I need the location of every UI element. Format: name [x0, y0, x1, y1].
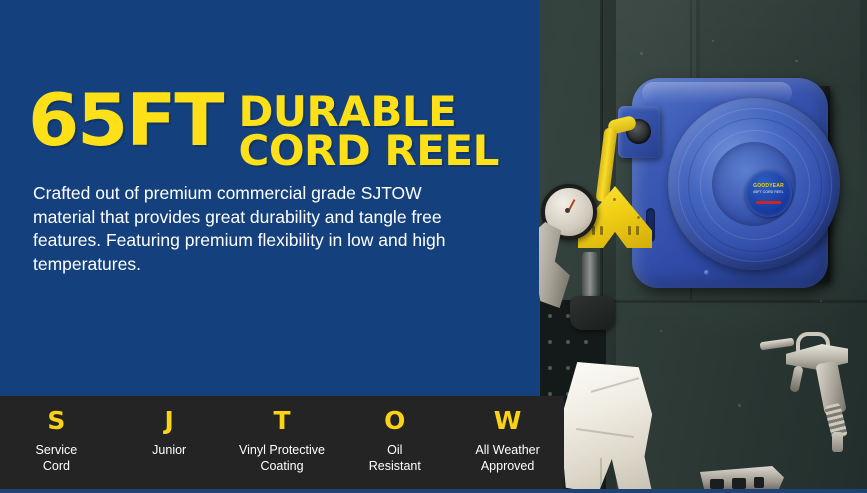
- headline-block: 65FT DURABLE CORD REEL: [30, 88, 530, 170]
- wall-speck: [640, 52, 643, 55]
- feature-letter-w: W: [494, 408, 522, 434]
- feature-letter-t: T: [273, 408, 290, 434]
- feature-letter-j: J: [165, 408, 174, 434]
- feature-letter-s: S: [47, 408, 65, 434]
- feature-label-o: OilResistant: [369, 442, 421, 474]
- label-model-text: 65FT CORD REEL: [745, 190, 792, 194]
- label-brand-text: GOODYEAR: [745, 183, 792, 189]
- body-copy: Crafted out of premium commercial grade …: [33, 182, 473, 276]
- bottom-accent-strip: [0, 489, 867, 493]
- blow-gun-trigger: [789, 365, 803, 392]
- feature-label-j: Junior: [152, 442, 186, 458]
- feature-column-s: S ServiceCord: [0, 396, 113, 474]
- headline-lines: DURABLE CORD REEL: [239, 88, 499, 170]
- feature-label-w: All WeatherApproved: [475, 442, 539, 474]
- product-brand-label: GOODYEAR 65FT CORD REEL: [745, 170, 792, 217]
- headline-line-2: CORD REEL: [239, 131, 499, 170]
- sjtow-feature-bar: S ServiceCord J Junior T Vinyl Protectiv…: [0, 396, 564, 489]
- valve-head: [570, 296, 614, 330]
- product-promo-banner: GOODYEAR 65FT CORD REEL: [0, 0, 867, 493]
- reel-screw: [704, 270, 709, 275]
- wall-screw: [832, 432, 843, 452]
- feature-column-t: T Vinyl ProtectiveCoating: [226, 396, 339, 474]
- blue-content-panel: 65FT DURABLE CORD REEL Crafted out of pr…: [0, 0, 539, 396]
- wall-speck: [820, 300, 822, 302]
- feature-column-o: O OilResistant: [338, 396, 451, 474]
- feature-letter-o: O: [384, 408, 405, 434]
- wall-speck: [795, 60, 798, 62]
- feature-label-s: ServiceCord: [36, 442, 78, 474]
- wall-speck: [712, 40, 714, 42]
- feature-column-w: W All WeatherApproved: [451, 396, 564, 474]
- blow-gun-nozzle: [760, 338, 795, 351]
- hose-clip: [582, 252, 598, 298]
- wall-speck: [738, 404, 741, 407]
- feature-label-t: Vinyl ProtectiveCoating: [239, 442, 325, 474]
- feature-column-j: J Junior: [113, 396, 226, 458]
- label-accent-bar: [756, 201, 781, 204]
- wall-speck: [660, 330, 662, 332]
- headline-measure: 65FT: [28, 88, 222, 152]
